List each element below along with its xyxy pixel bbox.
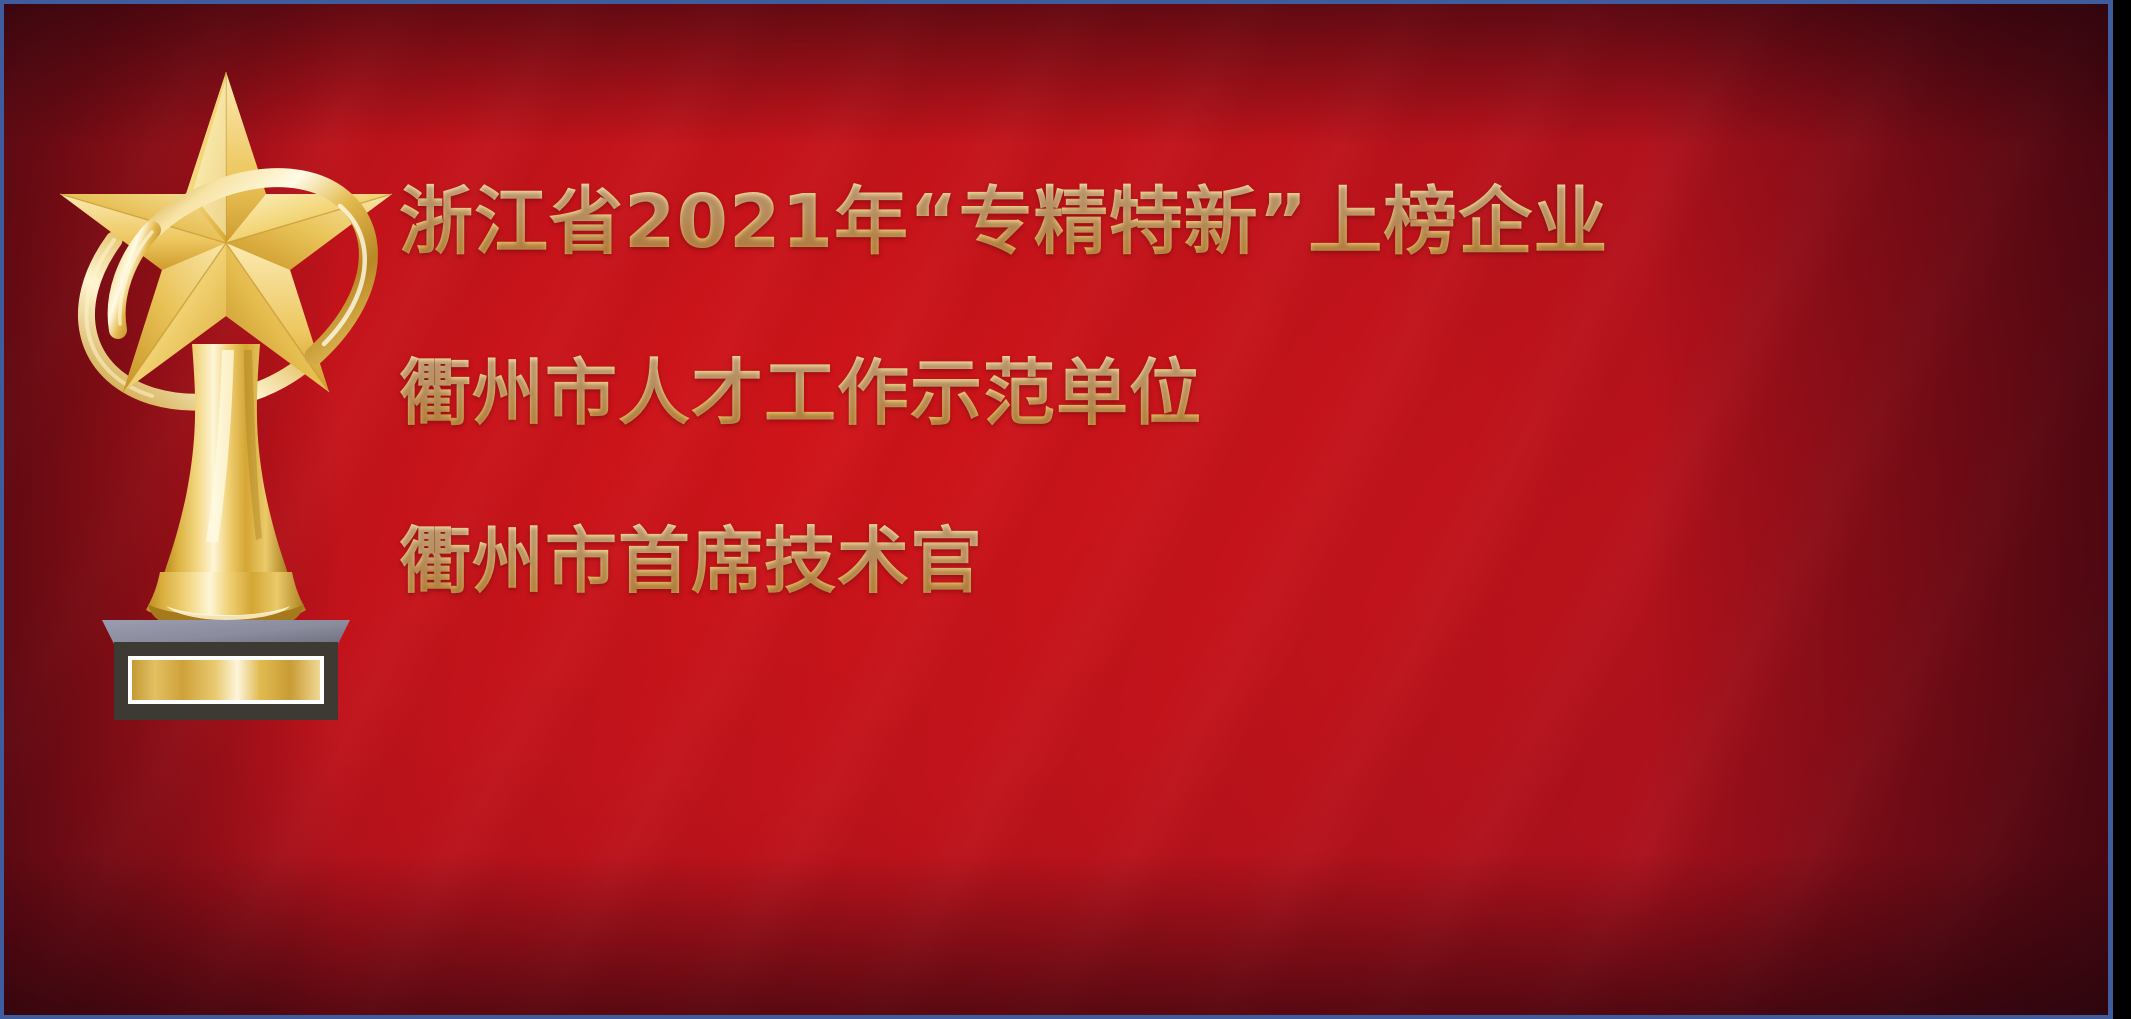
banner-frame: 浙江省2021年“专精特新”上榜企业 衢州市人才工作示范单位 衢州市首席技术官 xyxy=(0,0,2113,1019)
gold-star-trophy-icon xyxy=(56,44,396,644)
award-banner: 浙江省2021年“专精特新”上榜企业 衢州市人才工作示范单位 衢州市首席技术官 xyxy=(0,0,2131,1019)
award-line-2: 衢州市人才工作示范单位 xyxy=(399,342,2059,444)
engraved-plaque xyxy=(132,660,320,700)
award-line-1: 浙江省2021年“专精特新”上榜企业 xyxy=(399,170,2059,274)
award-line-3: 衢州市首席技术官 xyxy=(399,510,2059,612)
outside-black-margin xyxy=(2113,0,2131,1019)
pedestal-base xyxy=(102,620,350,720)
award-text-block: 浙江省2021年“专精特新”上榜企业 衢州市人才工作示范单位 衢州市首席技术官 xyxy=(399,170,2059,612)
